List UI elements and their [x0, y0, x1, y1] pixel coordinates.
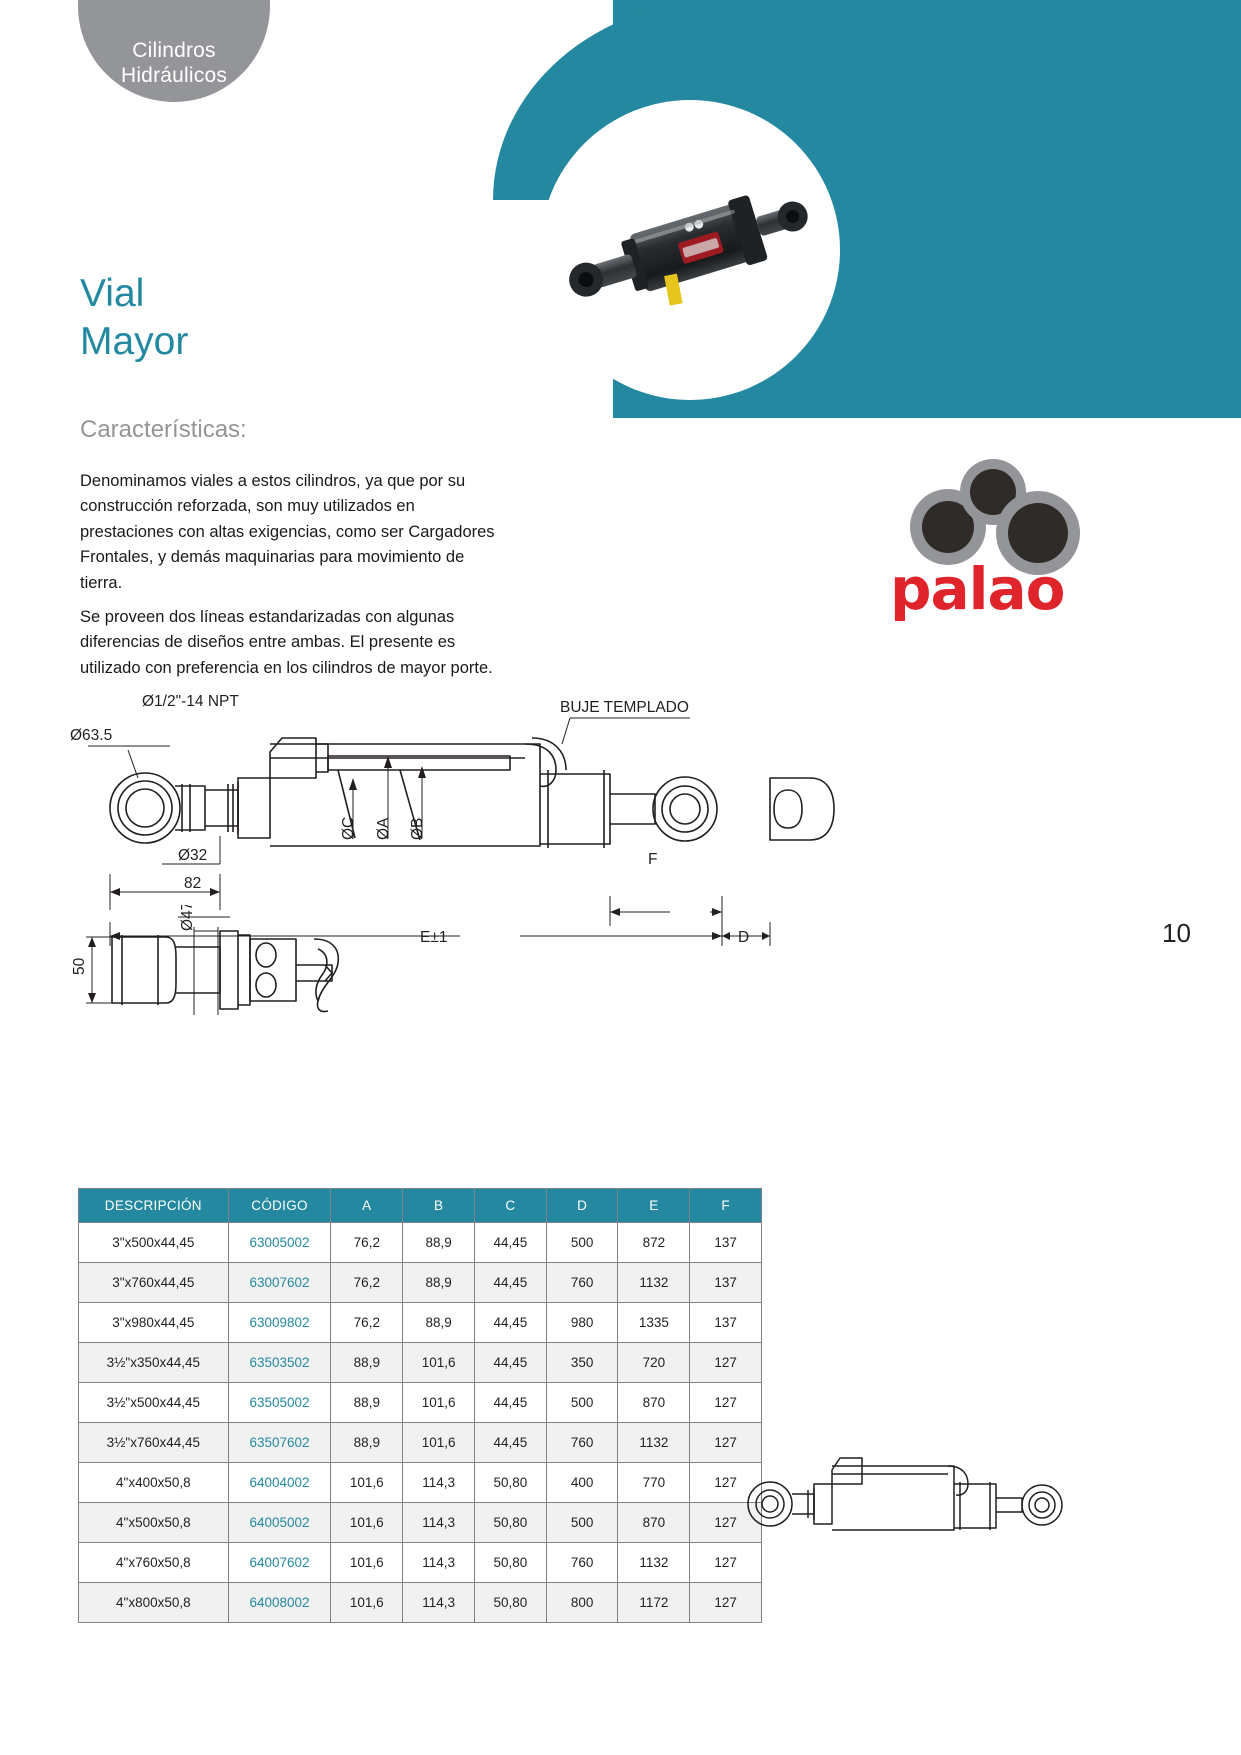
cell-descripcion: 3½"x500x44,45 — [79, 1383, 229, 1423]
table-row: 3½"x350x44,456350350288,9101,644,4535072… — [79, 1343, 762, 1383]
cell-e: 770 — [618, 1463, 690, 1503]
cell-descripcion: 4"x500x50,8 — [79, 1503, 229, 1543]
cell-d: 500 — [546, 1223, 618, 1263]
cell-c: 44,45 — [474, 1423, 546, 1463]
drawing-label-buje: BUJE TEMPLADO — [560, 699, 689, 716]
category-badge-text: Cilindros Hidráulicos — [121, 38, 227, 88]
cell-b: 88,9 — [403, 1263, 475, 1303]
cell-codigo[interactable]: 63503502 — [228, 1343, 331, 1383]
cell-codigo[interactable]: 64008002 — [228, 1583, 331, 1623]
cell-e: 1132 — [618, 1263, 690, 1303]
cell-descripcion: 4"x800x50,8 — [79, 1583, 229, 1623]
cell-b: 101,6 — [403, 1383, 475, 1423]
cell-descripcion: 3"x980x44,45 — [79, 1303, 229, 1343]
cell-c: 44,45 — [474, 1383, 546, 1423]
cell-descripcion: 4"x760x50,8 — [79, 1543, 229, 1583]
cell-c: 50,80 — [474, 1503, 546, 1543]
column-header-a: A — [331, 1189, 403, 1223]
page-title-line-1: Vial — [80, 272, 144, 315]
cell-a: 88,9 — [331, 1383, 403, 1423]
table-row: 3"x500x44,456300500276,288,944,455008721… — [79, 1223, 762, 1263]
cell-b: 88,9 — [403, 1303, 475, 1343]
spec-table: DESCRIPCIÓN CÓDIGO A B C D E F 3"x500x44… — [78, 1188, 762, 1623]
column-header-c: C — [474, 1189, 546, 1223]
drawing-label-c: ØC — [340, 817, 357, 840]
features-heading: Características: — [80, 416, 247, 444]
cell-b: 101,6 — [403, 1423, 475, 1463]
cell-codigo[interactable]: 64004002 — [228, 1463, 331, 1503]
table-row: 4"x760x50,864007602101,6114,350,80760113… — [79, 1543, 762, 1583]
features-paragraph-2: Se proveen dos líneas estandarizadas con… — [80, 605, 508, 681]
cell-a: 88,9 — [331, 1343, 403, 1383]
cell-c: 44,45 — [474, 1263, 546, 1303]
cell-e: 1335 — [618, 1303, 690, 1343]
palao-wordmark: palao — [890, 555, 1065, 623]
drawing-label-npt: Ø1/2"-14 NPT — [142, 693, 239, 710]
drawing-label-f: F — [648, 851, 657, 868]
cell-e: 1172 — [618, 1583, 690, 1623]
category-badge: Cilindros Hidráulicos — [78, 0, 270, 102]
technical-drawing-footer — [740, 1430, 1080, 1560]
cell-d: 980 — [546, 1303, 618, 1343]
column-header-d: D — [546, 1189, 618, 1223]
table-row: 3½"x760x44,456350760288,9101,644,4576011… — [79, 1423, 762, 1463]
cell-a: 101,6 — [331, 1583, 403, 1623]
cell-a: 101,6 — [331, 1463, 403, 1503]
drawing-label-b: ØB — [409, 818, 426, 840]
cell-e: 1132 — [618, 1423, 690, 1463]
drawing-label-d635: Ø63.5 — [70, 727, 112, 744]
table-row: 3"x760x44,456300760276,288,944,457601132… — [79, 1263, 762, 1303]
cell-codigo[interactable]: 63505002 — [228, 1383, 331, 1423]
cell-codigo[interactable]: 63005002 — [228, 1223, 331, 1263]
cell-descripcion: 4"x400x50,8 — [79, 1463, 229, 1503]
page-title-line-2: Mayor — [80, 320, 188, 363]
cell-b: 88,9 — [403, 1223, 475, 1263]
cell-a: 88,9 — [331, 1423, 403, 1463]
cell-e: 870 — [618, 1383, 690, 1423]
cell-descripcion: 3½"x350x44,45 — [79, 1343, 229, 1383]
cell-e: 870 — [618, 1503, 690, 1543]
drawing-label-d32: Ø32 — [178, 847, 207, 864]
cell-d: 350 — [546, 1343, 618, 1383]
cell-descripcion: 3½"x760x44,45 — [79, 1423, 229, 1463]
cell-c: 50,80 — [474, 1543, 546, 1583]
column-header-f: F — [690, 1189, 762, 1223]
cell-codigo[interactable]: 63009802 — [228, 1303, 331, 1343]
cell-b: 114,3 — [403, 1503, 475, 1543]
cell-e: 1132 — [618, 1543, 690, 1583]
cell-c: 50,80 — [474, 1583, 546, 1623]
features-paragraph-1: Denominamos viales a estos cilindros, ya… — [80, 469, 508, 596]
cell-f: 127 — [690, 1343, 762, 1383]
drawing-label-d475: Ø47.5 — [179, 905, 196, 931]
cell-d: 500 — [546, 1383, 618, 1423]
column-header-descripcion: DESCRIPCIÓN — [79, 1189, 229, 1223]
cell-f: 137 — [690, 1303, 762, 1343]
cell-c: 50,80 — [474, 1463, 546, 1503]
category-badge-line-2: Hidráulicos — [121, 63, 227, 88]
cell-e: 872 — [618, 1223, 690, 1263]
column-header-b: B — [403, 1189, 475, 1223]
cell-f: 127 — [690, 1583, 762, 1623]
cell-d: 400 — [546, 1463, 618, 1503]
product-photo-circle — [540, 100, 840, 400]
column-header-codigo: CÓDIGO — [228, 1189, 331, 1223]
cell-b: 114,3 — [403, 1463, 475, 1503]
cell-d: 760 — [546, 1543, 618, 1583]
cell-a: 76,2 — [331, 1263, 403, 1303]
table-row: 4"x500x50,864005002101,6114,350,80500870… — [79, 1503, 762, 1543]
cell-d: 760 — [546, 1423, 618, 1463]
drawing-label-dd: D — [738, 929, 749, 946]
cell-c: 44,45 — [474, 1343, 546, 1383]
column-header-e: E — [618, 1189, 690, 1223]
cell-a: 76,2 — [331, 1223, 403, 1263]
cell-b: 114,3 — [403, 1543, 475, 1583]
table-row: 3½"x500x44,456350500288,9101,644,4550087… — [79, 1383, 762, 1423]
spec-table-header-row: DESCRIPCIÓN CÓDIGO A B C D E F — [79, 1189, 762, 1223]
cell-f: 137 — [690, 1263, 762, 1303]
page-title: Vial Mayor — [80, 270, 188, 365]
cell-codigo[interactable]: 64005002 — [228, 1503, 331, 1543]
table-row: 4"x800x50,864008002101,6114,350,80800117… — [79, 1583, 762, 1623]
cell-codigo[interactable]: 64007602 — [228, 1543, 331, 1583]
cell-f: 137 — [690, 1223, 762, 1263]
cell-codigo[interactable]: 63007602 — [228, 1263, 331, 1303]
cell-c: 44,45 — [474, 1303, 546, 1343]
cell-d: 500 — [546, 1503, 618, 1543]
drawing-label-50: 50 — [71, 957, 88, 975]
cell-descripcion: 3"x500x44,45 — [79, 1223, 229, 1263]
cell-descripcion: 3"x760x44,45 — [79, 1263, 229, 1303]
cell-codigo[interactable]: 63507602 — [228, 1423, 331, 1463]
cell-b: 101,6 — [403, 1343, 475, 1383]
cell-d: 800 — [546, 1583, 618, 1623]
cell-c: 44,45 — [474, 1223, 546, 1263]
cell-a: 101,6 — [331, 1543, 403, 1583]
technical-drawing-detail: 50 Ø47.5 — [70, 905, 470, 1055]
page-number: 10 — [1162, 918, 1191, 949]
table-row: 4"x400x50,864004002101,6114,350,80400770… — [79, 1463, 762, 1503]
cell-a: 101,6 — [331, 1503, 403, 1543]
drawing-label-82: 82 — [184, 875, 201, 892]
cell-a: 76,2 — [331, 1303, 403, 1343]
cell-f: 127 — [690, 1383, 762, 1423]
cell-d: 760 — [546, 1263, 618, 1303]
cell-e: 720 — [618, 1343, 690, 1383]
cell-b: 114,3 — [403, 1583, 475, 1623]
spec-table-body: 3"x500x44,456300500276,288,944,455008721… — [79, 1223, 762, 1623]
table-row: 3"x980x44,456300980276,288,944,459801335… — [79, 1303, 762, 1343]
drawing-label-a: ØA — [375, 817, 392, 840]
category-badge-line-1: Cilindros — [121, 38, 227, 63]
